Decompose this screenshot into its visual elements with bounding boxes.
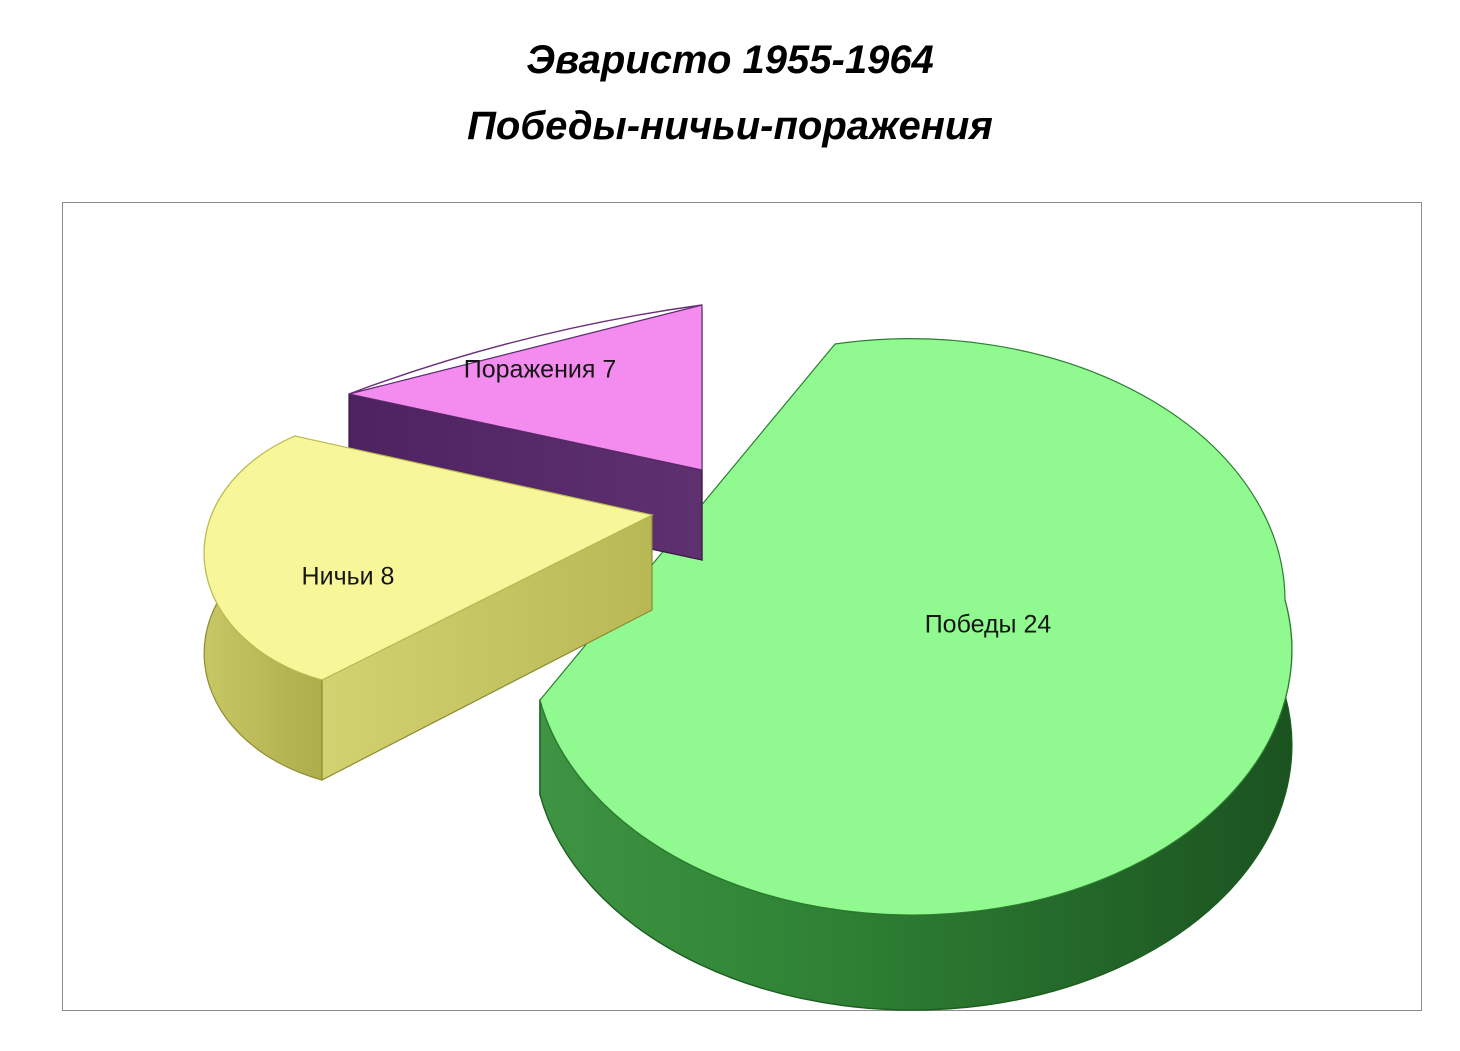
pie-chart-3d: Победы 24 Поражения 7 Ничьи 8 <box>0 0 1460 1051</box>
pie-slice-pobedy-label: Победы 24 <box>925 611 1052 639</box>
chart-canvas: Эваристо 1955-1964 Победы-ничьи-поражени… <box>0 0 1460 1051</box>
pie-slice-porazheniya-label: Поражения 7 <box>464 356 616 384</box>
pie-slice-nichi-label: Ничьи 8 <box>302 563 395 591</box>
